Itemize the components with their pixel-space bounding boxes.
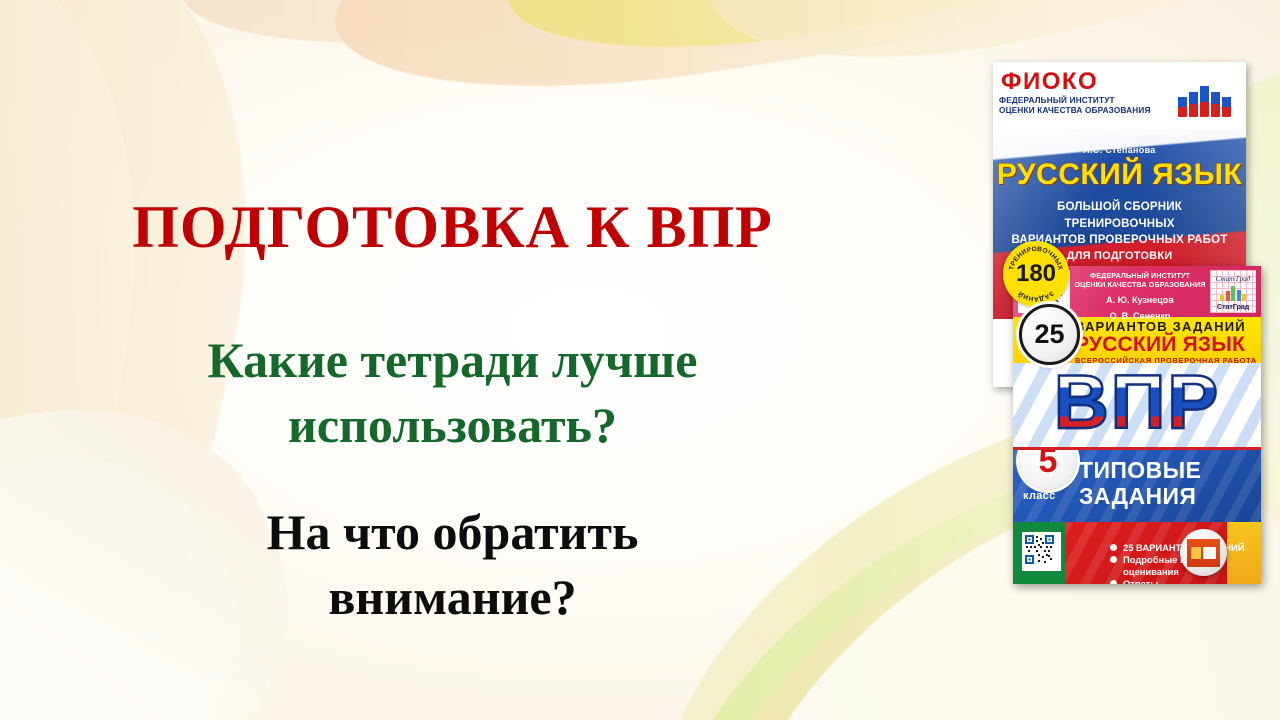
subtitle-black: На что обратить внимание? — [0, 500, 905, 630]
subtitle-black-line-1: На что обратить — [0, 500, 905, 565]
book-top-subject: РУССКИЙ ЯЗЫК — [993, 158, 1246, 192]
grade-badge: 5 — [1019, 450, 1077, 490]
feature-list: 25 ВАРИАНТОВ ЗАДАНИЙ Подробные критерии … — [1070, 538, 1261, 584]
open-book-icon — [1203, 547, 1216, 559]
statgrad-name: СтатГрад — [1217, 302, 1249, 311]
coat-of-arms-icon — [1191, 547, 1201, 559]
text-column: ПОДГОТОВКА К ВПР Какие тетради лучше исп… — [0, 0, 930, 720]
statgrad-chart-icon — [1220, 283, 1246, 301]
book-top-desc-line-1: БОЛЬШОЙ СБОРНИК — [993, 199, 1246, 216]
book-front-subject: РУССКИЙ ЯЗЫК — [1075, 334, 1261, 356]
subtitle-green-line-1: Какие тетради лучше — [0, 328, 905, 393]
subtitle-black-line-2: внимание? — [0, 565, 905, 630]
grade-number: 5 — [1039, 450, 1058, 478]
variants-count-badge: 25 — [1019, 304, 1080, 365]
vpr-abbreviation: ВПР — [1013, 363, 1261, 446]
institute-line-1: ФЕДЕРАЛЬНЫЙ ИНСТИТУТ — [1070, 271, 1210, 280]
variants-count-number: 25 — [1034, 319, 1064, 350]
fioko-logo-icon — [1176, 69, 1240, 117]
subtitle-green-line-2: использовать? — [0, 393, 905, 458]
book-top-desc-line-2: ТРЕНИРОВОЧНЫХ — [993, 216, 1246, 233]
book-front-type-line-2: ЗАДАНИЯ — [1079, 484, 1261, 510]
institute-line-2: ОЦЕНКИ КАЧЕСТВА ОБРАЗОВАНИЯ — [1070, 280, 1210, 289]
book-front-blue-band: 5 класс ТИПОВЫЕ ЗАДАНИЯ — [1013, 450, 1261, 522]
book-front-institute-block: ФЕДЕРАЛЬНЫЙ ИНСТИТУТ ОЦЕНКИ КАЧЕСТВА ОБР… — [1070, 266, 1210, 317]
subtitle-green: Какие тетради лучше использовать? — [0, 328, 905, 458]
book-top-header: ФИОКО ФЕДЕРАЛЬНЫЙ ИНСТИТУТ ОЦЕНКИ КАЧЕСТ… — [993, 62, 1246, 129]
statgrad-script-label: Стат Град — [1216, 275, 1251, 283]
presentation-slide: ПОДГОТОВКА К ВПР Какие тетради лучше исп… — [0, 0, 1280, 720]
qr-code-icon — [1022, 532, 1061, 571]
page-title: ПОДГОТОВКА К ВПР — [0, 196, 905, 259]
svg-text:ТРЕНИРОВОЧНЫХ: ТРЕНИРОВОЧНЫХ — [1008, 246, 1063, 271]
book-top-author: Л.С. Степанова — [993, 145, 1246, 155]
book-front-author-1: А. Ю. Кузнецов — [1070, 294, 1210, 306]
book-front-author-2: О. В. Сененко — [1070, 310, 1210, 322]
badge-arc-text: ТРЕНИРОВОЧНЫХ ЗАДАНИЙ — [1005, 243, 1067, 305]
grade-word: класс — [1023, 490, 1055, 502]
book-cover-front: ФИОКО ФЕДЕРАЛЬНЫЙ ИНСТИТУТ ОЦЕНКИ КАЧЕСТ… — [1013, 266, 1261, 584]
statgrad-logo: Стат Град СтатГрад — [1210, 270, 1256, 313]
svg-text:ЗАДАНИЙ: ЗАДАНИЙ — [1016, 289, 1055, 302]
list-item: Ответы — [1110, 578, 1261, 584]
publisher-seal-inner — [1187, 539, 1220, 567]
vpr-logo-panel: ВПР — [1013, 363, 1261, 450]
publisher-seal-icon — [1180, 529, 1227, 576]
book-front-type-line-1: ТИПОВЫЕ — [1079, 450, 1261, 484]
book-front-bottom-band: 25 ВАРИАНТОВ ЗАДАНИЙ Подробные критерии … — [1013, 522, 1261, 584]
training-tasks-badge: ТРЕНИРОВОЧНЫХ ЗАДАНИЙ 180 — [1003, 241, 1069, 307]
